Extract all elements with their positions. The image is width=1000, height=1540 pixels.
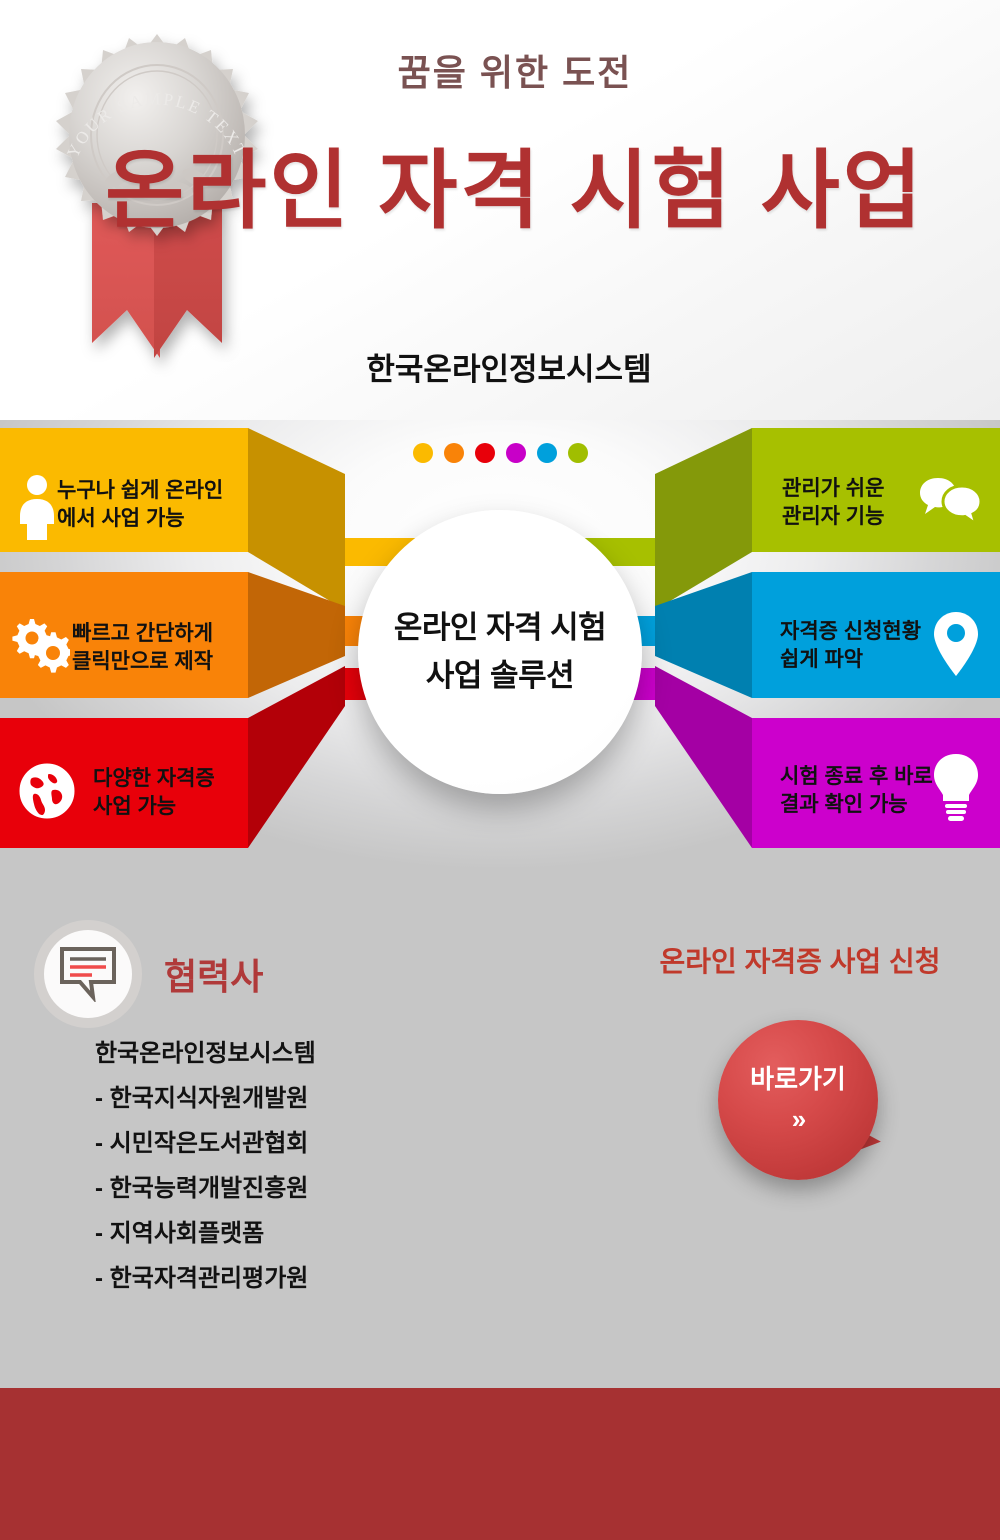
header-section: 꿈을 위한 도전 온라인 자격 시험 사업 한국온라인정보시스템 — [0, 0, 1000, 420]
dot-blue — [537, 443, 557, 463]
center-line-2: 사업 솔루션 — [426, 652, 574, 700]
partners-header: 협력사 — [34, 920, 263, 1028]
panel-right-2-text: 자격증 신청현황쉽게 파악 — [780, 618, 921, 673]
list-item: - 한국자격관리평가원 — [95, 1267, 316, 1291]
panel-right-1-text: 관리가 쉬운관리자 기능 — [782, 475, 884, 530]
panel-right-3-text: 시험 종료 후 바로결과 확인 가능 — [780, 763, 933, 818]
dot-magenta — [506, 443, 526, 463]
partners-title: 협력사 — [164, 948, 263, 1000]
list-item: - 한국지식자원개발원 — [95, 1087, 316, 1111]
page-title: 온라인 자격 시험 사업 — [0, 120, 1000, 245]
globe-icon — [18, 762, 76, 820]
go-button[interactable]: 바로가기 » — [718, 1020, 878, 1180]
chevron-right-icon: » — [792, 1104, 804, 1135]
apply-cta[interactable]: 바로가기 » — [718, 1020, 888, 1192]
list-item: 한국온라인정보시스템 — [95, 1042, 316, 1066]
location-pin-icon — [932, 610, 980, 678]
person-icon — [12, 472, 62, 542]
lightbulb-icon — [930, 752, 982, 826]
list-item: - 시민작은도서관협회 — [95, 1132, 316, 1156]
panel-left-3-text: 다양한 자격증사업 가능 — [93, 765, 215, 820]
partners-icon-circle — [34, 920, 142, 1028]
dot-orange — [444, 443, 464, 463]
center-line-1: 온라인 자격 시험 — [394, 604, 606, 652]
dot-yellow — [413, 443, 433, 463]
speech-bubble-lines-icon — [59, 946, 117, 1002]
dot-olive — [568, 443, 588, 463]
dot-red — [475, 443, 495, 463]
apply-section-title: 온라인 자격증 사업 신청 — [600, 940, 1000, 980]
panel-left-1-text: 누구나 쉽게 온라인에서 사업 가능 — [57, 477, 223, 532]
list-item: - 한국능력개발진흥원 — [95, 1177, 316, 1201]
gears-icon — [8, 615, 70, 673]
speech-bubbles-icon — [920, 476, 982, 528]
color-dots-row — [0, 443, 1000, 463]
footer-bar — [0, 1388, 1000, 1540]
go-button-label: 바로가기 — [750, 1066, 846, 1092]
list-item: - 지역사회플랫폼 — [95, 1222, 316, 1246]
partners-icon-inner — [44, 930, 132, 1018]
partners-list: 한국온라인정보시스템 - 한국지식자원개발원 - 시민작은도서관협회 - 한국능… — [95, 1042, 316, 1312]
center-solution-circle: 온라인 자격 시험 사업 솔루션 — [358, 510, 642, 794]
panel-left-2-text: 빠르고 간단하게클릭만으로 제작 — [72, 620, 213, 675]
poster-root: 꿈을 위한 도전 온라인 자격 시험 사업 한국온라인정보시스템 — [0, 0, 1000, 1540]
